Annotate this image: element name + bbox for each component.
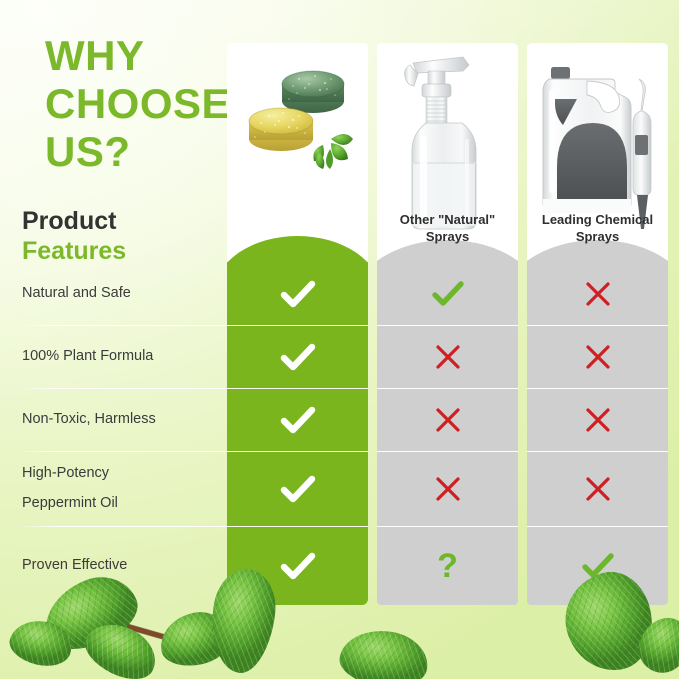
- cell-divider: [377, 451, 518, 452]
- page-title-line-1: WHY: [45, 32, 220, 80]
- page-title-line-3: US?: [45, 128, 220, 176]
- feature-label-text-multiline: High-Potency Peppermint Oil: [22, 463, 118, 514]
- cross-icon: [434, 343, 462, 371]
- feature-label-row: Non-Toxic, Harmless: [0, 388, 228, 451]
- mint-leaf: [336, 624, 432, 679]
- mark-cell: [377, 388, 518, 451]
- product-photo-card: [227, 43, 368, 262]
- mark-cell: [377, 262, 518, 325]
- mark-cell: [527, 388, 668, 451]
- row-divider: [16, 526, 228, 527]
- feature-label-text: Natural and Safe: [22, 283, 131, 304]
- feature-label-text: Non-Toxic, Harmless: [22, 409, 156, 430]
- mark-cell: [227, 451, 368, 526]
- feature-label-line-2: Peppermint Oil: [22, 493, 118, 514]
- mark-cell: [527, 325, 668, 388]
- mint-leaf: [206, 566, 280, 677]
- feature-label-row: 100% Plant Formula: [0, 325, 228, 388]
- cross-icon: [584, 343, 612, 371]
- mark-cell: [377, 325, 518, 388]
- feature-label-row: Natural and Safe: [0, 262, 228, 325]
- cell-divider: [527, 451, 668, 452]
- row-divider: [16, 388, 228, 389]
- features-heading-line-1: Product: [22, 206, 222, 236]
- row-divider: [16, 451, 228, 452]
- cell-divider: [227, 325, 368, 326]
- mark-cell: [527, 262, 668, 325]
- product-column-leading-chemical-sprays[interactable]: Leading Chemical Sprays: [527, 43, 668, 262]
- product-column-our-product[interactable]: [227, 43, 368, 262]
- mark-cell: [227, 262, 368, 325]
- feature-label-text: 100% Plant Formula: [22, 346, 153, 367]
- cross-icon: [434, 406, 462, 434]
- cell-divider: [527, 325, 668, 326]
- feature-label-column: Natural and Safe 100% Plant Formula Non-…: [0, 262, 228, 605]
- cell-divider: [377, 526, 518, 527]
- cell-divider: [377, 325, 518, 326]
- mark-cell: [227, 325, 368, 388]
- cross-icon: [434, 475, 462, 503]
- mint-leaves-decoration: [0, 559, 679, 679]
- feature-label-row: High-Potency Peppermint Oil: [0, 451, 228, 526]
- mark-cell: [527, 451, 668, 526]
- column-caption-line-2: Sprays: [381, 228, 514, 245]
- cell-divider: [227, 451, 368, 452]
- cell-divider: [227, 388, 368, 389]
- check-icon: [280, 279, 316, 309]
- effervescent-tablets-icon: [227, 43, 368, 262]
- cell-divider: [527, 526, 668, 527]
- column-caption-leading-chemical-sprays: Leading Chemical Sprays: [531, 211, 664, 245]
- cross-icon: [584, 475, 612, 503]
- cell-divider: [227, 526, 368, 527]
- column-caption-line-1: Leading Chemical: [531, 211, 664, 228]
- column-caption-line-2: Sprays: [531, 228, 664, 245]
- column-caption-other-natural-sprays: Other "Natural" Sprays: [381, 211, 514, 245]
- check-icon: [431, 280, 465, 308]
- feature-label-line-1: High-Potency: [22, 463, 118, 484]
- product-column-other-natural-sprays[interactable]: Other "Natural" Sprays: [377, 43, 518, 262]
- features-heading: Product Features: [22, 206, 222, 266]
- column-caption-line-1: Other "Natural": [381, 211, 514, 228]
- cell-divider: [377, 388, 518, 389]
- check-icon: [280, 474, 316, 504]
- mark-column-our-product: [227, 262, 368, 605]
- mark-cell: [377, 451, 518, 526]
- mark-cell: [227, 388, 368, 451]
- mark-column-other-natural-sprays: ?: [377, 262, 518, 605]
- check-icon: [280, 405, 316, 435]
- mark-column-leading-chemical-sprays: [527, 262, 668, 605]
- page-title-line-2: CHOOSE: [45, 80, 220, 128]
- cross-icon: [584, 406, 612, 434]
- page-title: WHY CHOOSE US?: [45, 32, 220, 176]
- row-divider: [16, 325, 228, 326]
- check-icon: [280, 342, 316, 372]
- cross-icon: [584, 280, 612, 308]
- cell-divider: [527, 388, 668, 389]
